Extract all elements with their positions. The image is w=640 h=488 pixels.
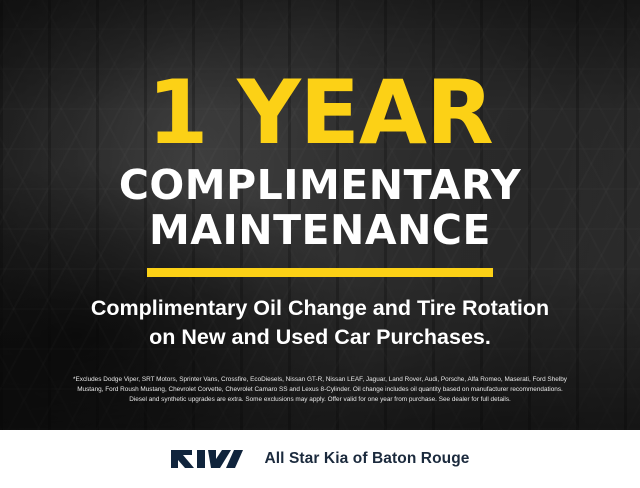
disclaimer-line-1: *Excludes Dodge Viper, SRT Motors, Sprin…: [12, 375, 628, 385]
kia-logo: [170, 448, 244, 470]
disclaimer-line-3: Diesel and synthetic upgrades are extra.…: [12, 395, 628, 405]
promotional-banner: 1 YEAR COMPLIMENTARY MAINTENANCE Complim…: [0, 0, 640, 488]
headline-content: 1 YEAR COMPLIMENTARY MAINTENANCE Complim…: [0, 0, 640, 430]
headline-year: 1 YEAR: [147, 73, 493, 154]
subheadline-line-1: Complimentary Oil Change and Tire Rotati…: [91, 294, 549, 322]
disclaimer-text: *Excludes Dodge Viper, SRT Motors, Sprin…: [12, 375, 628, 406]
headline-maintenance: MAINTENANCE: [149, 210, 491, 251]
dealer-name: All Star Kia of Baton Rouge: [264, 450, 469, 468]
subheadline-line-2: on New and Used Car Purchases.: [149, 323, 491, 351]
dealership-footer: All Star Kia of Baton Rouge: [0, 430, 640, 488]
headline-complimentary: COMPLIMENTARY: [119, 165, 521, 206]
disclaimer-line-2: Mustang, Ford Roush Mustang, Chevrolet C…: [12, 385, 628, 395]
yellow-divider-bar: [147, 268, 493, 277]
